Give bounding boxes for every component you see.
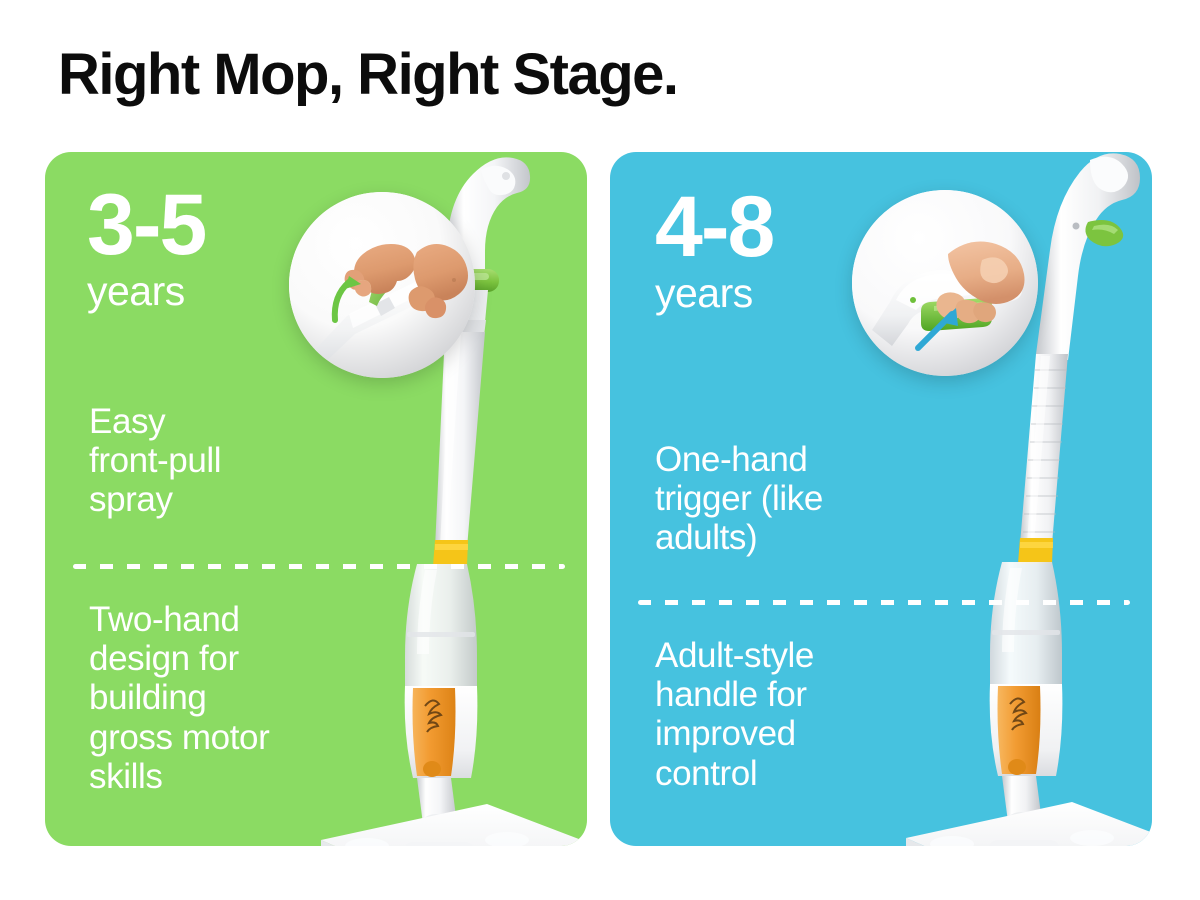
feature-text-right-1: One-hand trigger (like adults) [655,440,905,558]
age-unit-left: years [87,269,205,314]
age-range-right: 4-8 [655,188,773,267]
trigger-lever-green [1085,220,1123,246]
feature-divider-left [73,564,565,569]
feature-text-left-1: Easy front-pull spray [89,402,339,520]
age-badge-left: 3-5 years [87,186,205,314]
page-title: Right Mop, Right Stage. [58,46,678,104]
age-stage-card-3-5: 3-5 years [45,152,587,846]
inset-photo-one-hand-trigger [852,190,1038,376]
age-stage-card-4-8: 4-8 years [610,152,1152,846]
mop-head [321,804,587,846]
inset-illustration-right [852,190,1038,376]
age-badge-right: 4-8 years [655,188,773,316]
age-unit-right: years [655,271,773,316]
feature-text-right-2: Adult-style handle for improved control [655,636,907,793]
age-range-left: 3-5 [87,186,205,265]
mop-head [906,802,1152,846]
inset-photo-front-pull [289,192,475,378]
inset-illustration-left [289,192,475,378]
feature-divider-right [638,600,1130,605]
feature-text-left-2: Two-hand design for building gross motor… [89,600,351,796]
